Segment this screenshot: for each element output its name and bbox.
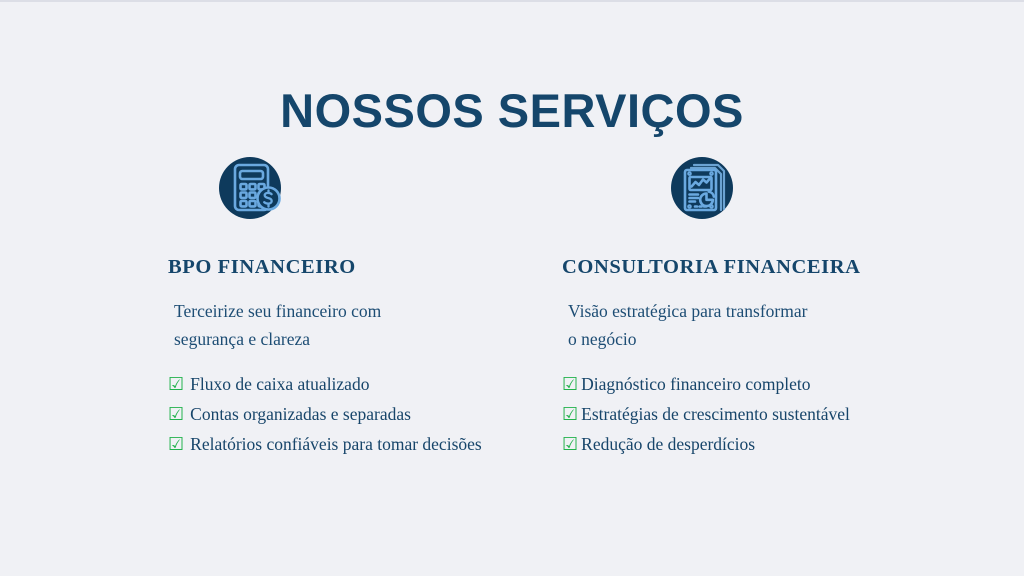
feature-label: Fluxo de caixa atualizado bbox=[190, 370, 369, 400]
description-line: o negócio bbox=[568, 325, 962, 353]
description-line: Visão estratégica para transformar bbox=[568, 297, 962, 325]
description-line: segurança e clareza bbox=[174, 325, 568, 353]
list-item: ☑ Contas organizadas e separadas bbox=[168, 400, 568, 430]
service-card-consultoria-financeira: CONSULTORIA FINANCEIRA Visão estratégica… bbox=[562, 152, 962, 459]
calculator-money-icon bbox=[216, 152, 288, 224]
page-title: NOSSOS SERVIÇOS bbox=[0, 85, 1024, 137]
service-description: Visão estratégica para transformar o neg… bbox=[568, 297, 962, 354]
feature-label: Estratégias de crescimento sustentável bbox=[581, 400, 850, 430]
feature-label: Contas organizadas e separadas bbox=[190, 400, 411, 430]
check-square-icon: ☑ bbox=[168, 436, 184, 454]
check-square-icon: ☑ bbox=[562, 436, 578, 454]
check-square-icon: ☑ bbox=[168, 406, 184, 424]
service-description: Terceirize seu financeiro com segurança … bbox=[174, 297, 568, 354]
feature-label: Diagnóstico financeiro completo bbox=[581, 370, 810, 400]
list-item: ☑ Diagnóstico financeiro completo bbox=[562, 370, 962, 400]
service-heading: BPO FINANCEIRO bbox=[168, 256, 568, 279]
services-slide: NOSSOS SERVIÇOS bbox=[0, 0, 1024, 576]
services-columns: BPO FINANCEIRO Terceirize seu financeiro… bbox=[0, 152, 1024, 482]
list-item: ☑ Relatórios confiáveis para tomar decis… bbox=[168, 430, 568, 460]
check-square-icon: ☑ bbox=[168, 376, 184, 394]
feature-label: Redução de desperdícios bbox=[581, 430, 755, 460]
check-square-icon: ☑ bbox=[562, 406, 578, 424]
feature-list: ☑ Diagnóstico financeiro completo ☑ Estr… bbox=[562, 370, 962, 460]
feature-list: ☑ Fluxo de caixa atualizado ☑ Contas org… bbox=[168, 370, 568, 460]
check-square-icon: ☑ bbox=[562, 376, 578, 394]
service-card-bpo-financeiro: BPO FINANCEIRO Terceirize seu financeiro… bbox=[168, 152, 568, 459]
feature-label: Relatórios confiáveis para tomar decisõe… bbox=[190, 430, 482, 460]
report-charts-icon bbox=[668, 152, 740, 224]
list-item: ☑ Fluxo de caixa atualizado bbox=[168, 370, 568, 400]
list-item: ☑ Redução de desperdícios bbox=[562, 430, 962, 460]
list-item: ☑ Estratégias de crescimento sustentável bbox=[562, 400, 962, 430]
service-heading: CONSULTORIA FINANCEIRA bbox=[562, 256, 962, 279]
description-line: Terceirize seu financeiro com bbox=[174, 297, 568, 325]
